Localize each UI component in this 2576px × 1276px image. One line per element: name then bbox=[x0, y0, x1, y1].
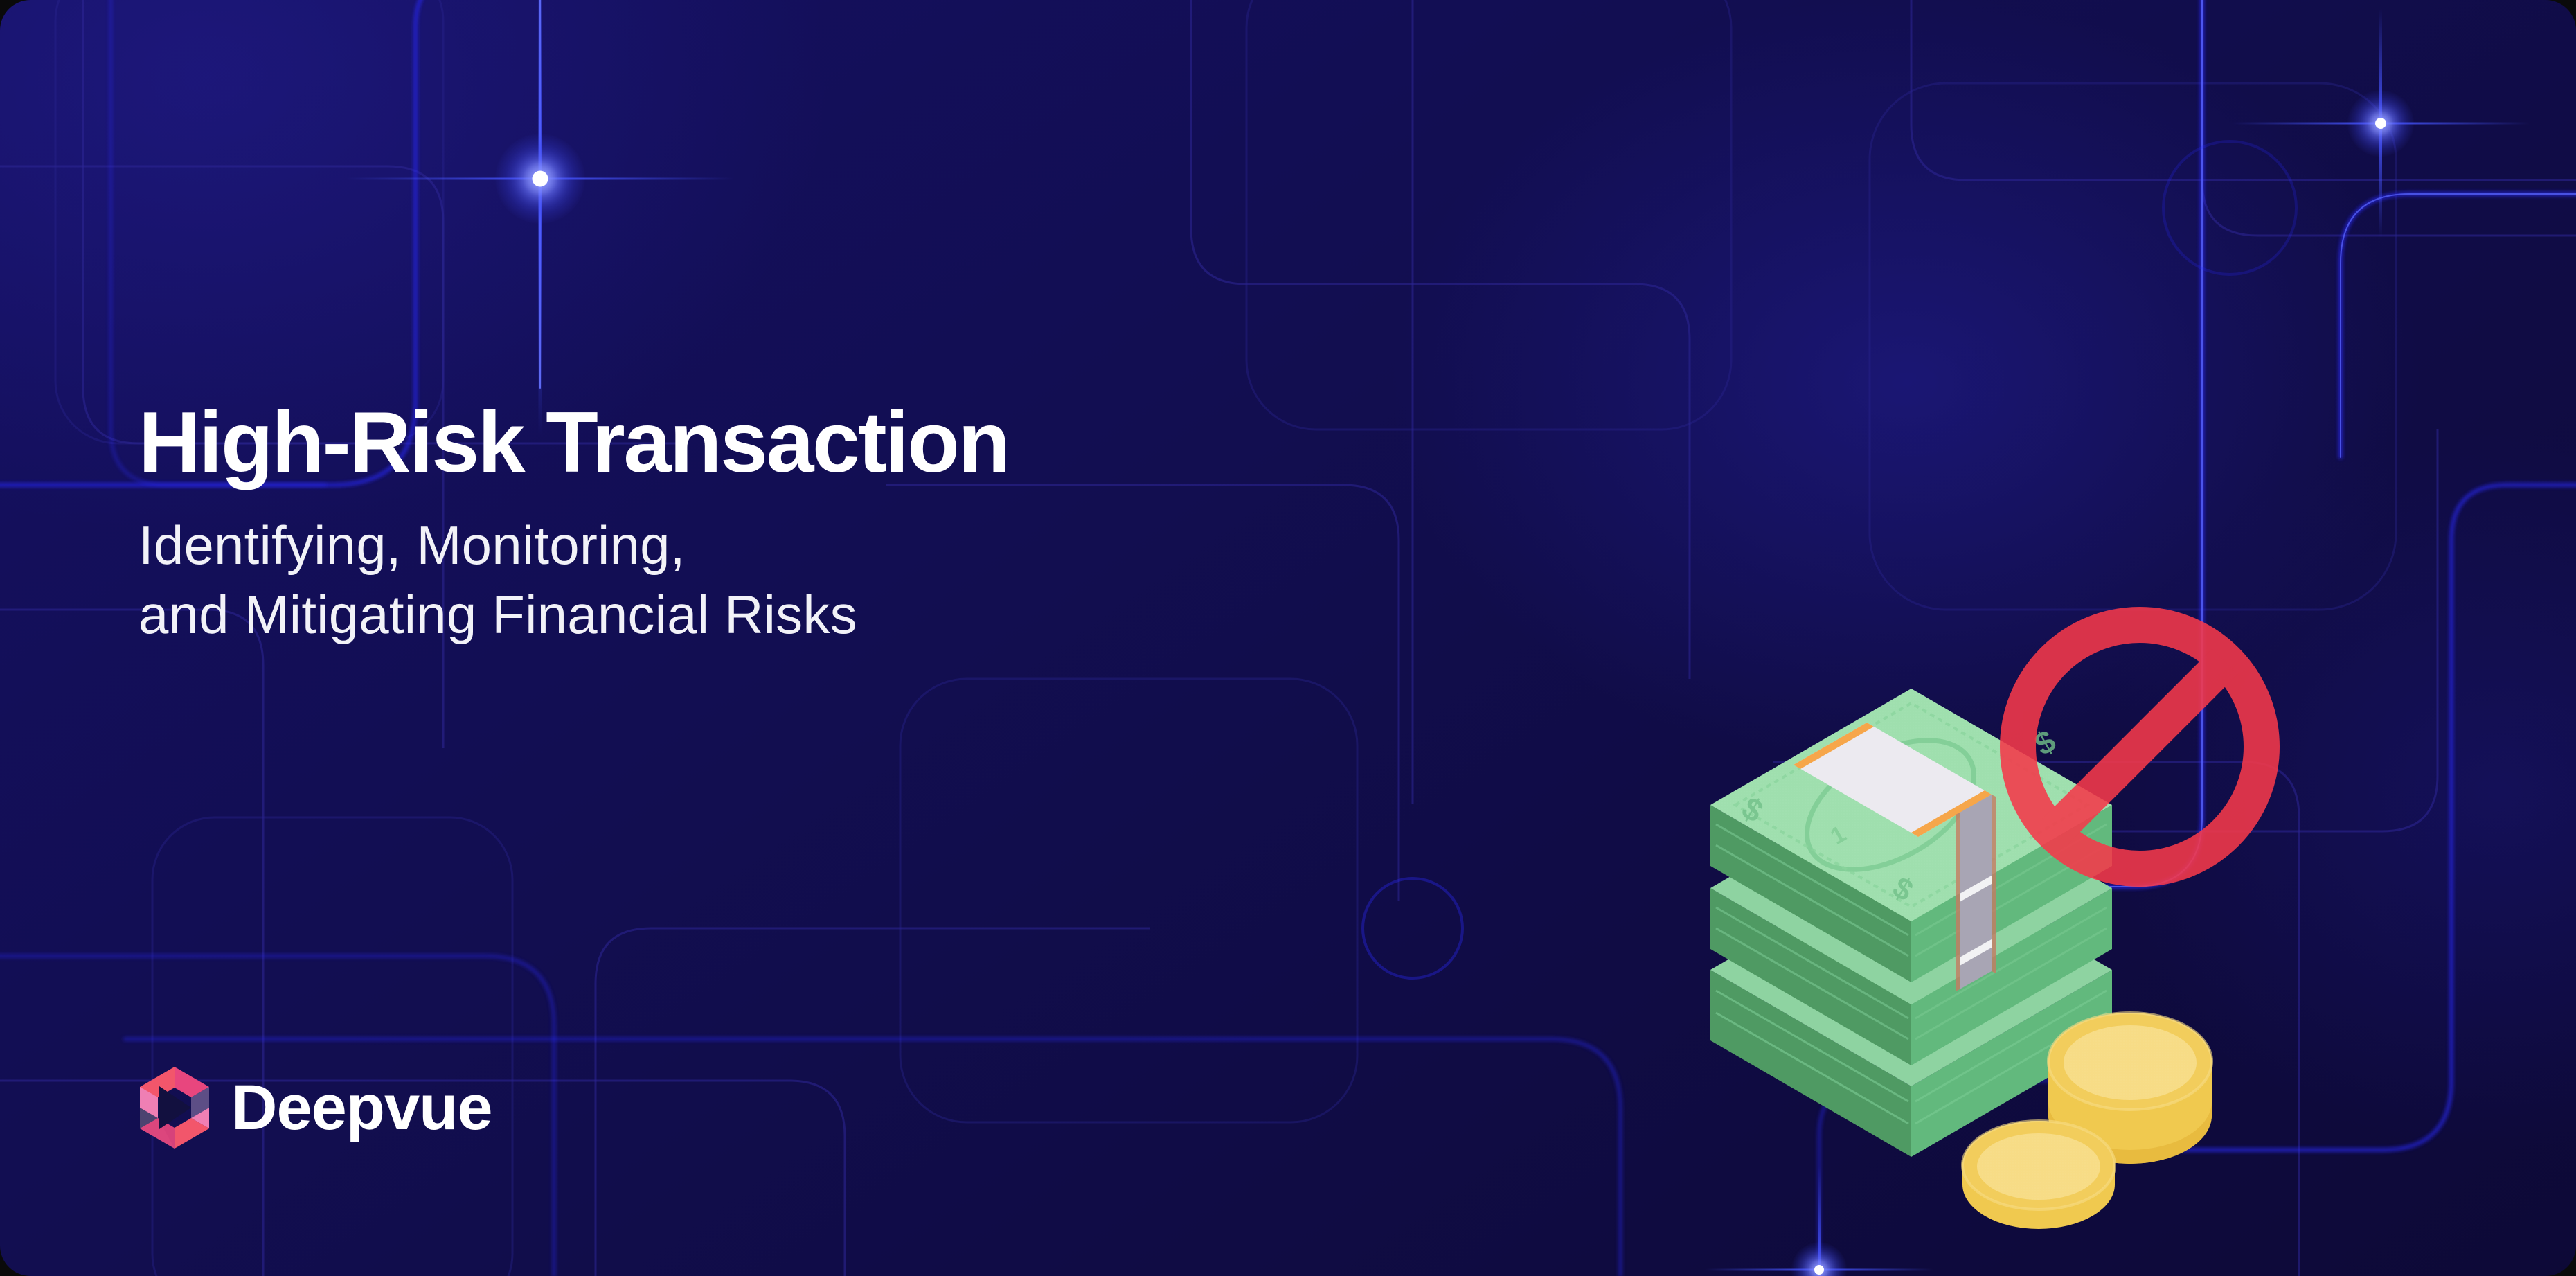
subtitle-line-2: and Mitigating Financial Risks bbox=[138, 581, 1627, 650]
page-subtitle: Identifying, Monitoring, and Mitigating … bbox=[138, 511, 1627, 650]
deepvue-hexagon-icon bbox=[136, 1065, 213, 1150]
gold-coin-flat bbox=[1962, 1121, 2115, 1229]
headline-block: High-Risk Transaction Identifying, Monit… bbox=[138, 398, 1627, 650]
blocked-cash-illustration: $ bbox=[1683, 547, 2341, 1212]
logo-wordmark: Deepvue bbox=[231, 1076, 492, 1140]
banner-card: High-Risk Transaction Identifying, Monit… bbox=[0, 0, 2576, 1276]
brand-logo[interactable]: Deepvue bbox=[136, 1065, 492, 1150]
page-title: High-Risk Transaction bbox=[138, 398, 1627, 488]
subtitle-line-1: Identifying, Monitoring, bbox=[138, 511, 1627, 581]
